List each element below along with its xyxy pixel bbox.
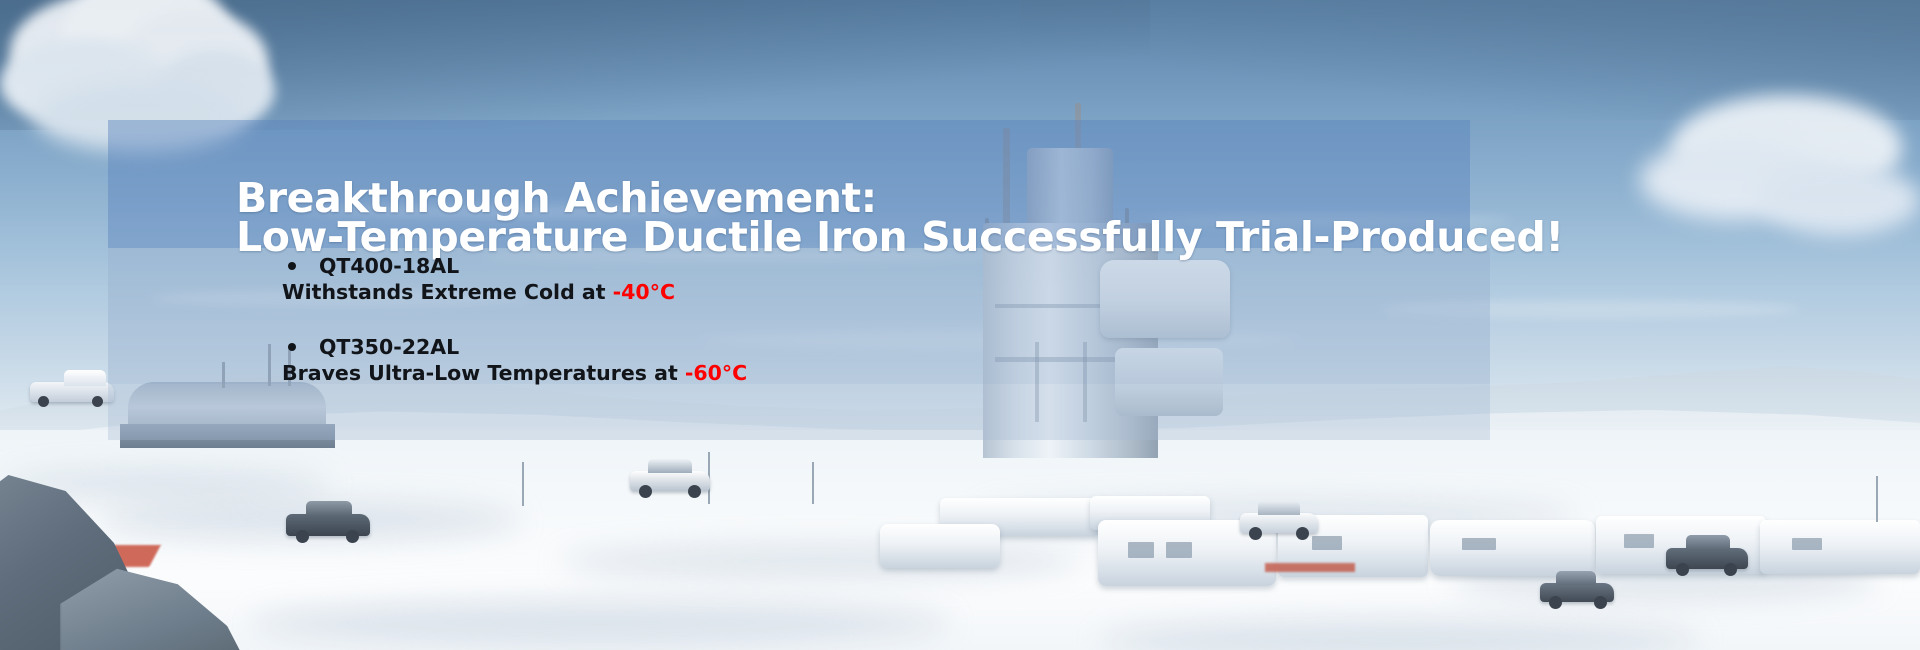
red-tarp-marker — [1265, 563, 1355, 572]
material-grade-label: QT400-18AL — [287, 254, 459, 278]
material-grade-label: QT350-22AL — [287, 335, 459, 359]
description-text: Braves Ultra-Low Temperatures at — [282, 361, 685, 385]
utility-pole-icon — [1876, 476, 1878, 522]
text-overlay-panel: Breakthrough Achievement: Low-Temperatur… — [108, 120, 1490, 440]
utility-pole-icon — [812, 462, 814, 504]
bullet-dot-icon — [288, 343, 296, 351]
feature-bullet-list: QT400-18AL Withstands Extreme Cold at -4… — [108, 254, 1490, 386]
window — [1462, 538, 1496, 550]
bullet-dot-icon — [288, 262, 296, 270]
list-item: QT350-22AL Braves Ultra-Low Temperatures… — [108, 335, 1490, 386]
bullet-description-row: Braves Ultra-Low Temperatures at -60°C — [108, 360, 1490, 386]
promo-banner: Breakthrough Achievement: Low-Temperatur… — [0, 0, 1920, 650]
window — [1792, 538, 1822, 550]
bullet-description-row: Withstands Extreme Cold at -40°C — [108, 279, 1490, 305]
cloud-icon — [1760, 165, 1920, 235]
snow-shadow — [560, 545, 1080, 579]
hangar-building — [880, 524, 1000, 568]
bullet-grade-row: QT350-22AL — [108, 335, 1490, 359]
temperature-value: -40°C — [613, 280, 675, 304]
footer-band — [108, 384, 1490, 440]
window — [1128, 542, 1154, 558]
utility-pole-icon — [522, 462, 524, 506]
headline-line-2: Low-Temperature Ductile Iron Successfull… — [236, 218, 1496, 257]
bullet-grade-row: QT400-18AL — [108, 254, 1490, 278]
hangar-building — [1430, 520, 1595, 576]
description-text: Withstands Extreme Cold at — [282, 280, 613, 304]
window — [1624, 534, 1654, 548]
temperature-value: -60°C — [685, 361, 747, 385]
snow-shadow — [250, 600, 950, 646]
page-title: Breakthrough Achievement: Low-Temperatur… — [236, 179, 1496, 257]
window — [1166, 542, 1192, 558]
list-item: QT400-18AL Withstands Extreme Cold at -4… — [108, 254, 1490, 305]
window — [1312, 536, 1342, 550]
hangar-building — [1760, 520, 1920, 574]
